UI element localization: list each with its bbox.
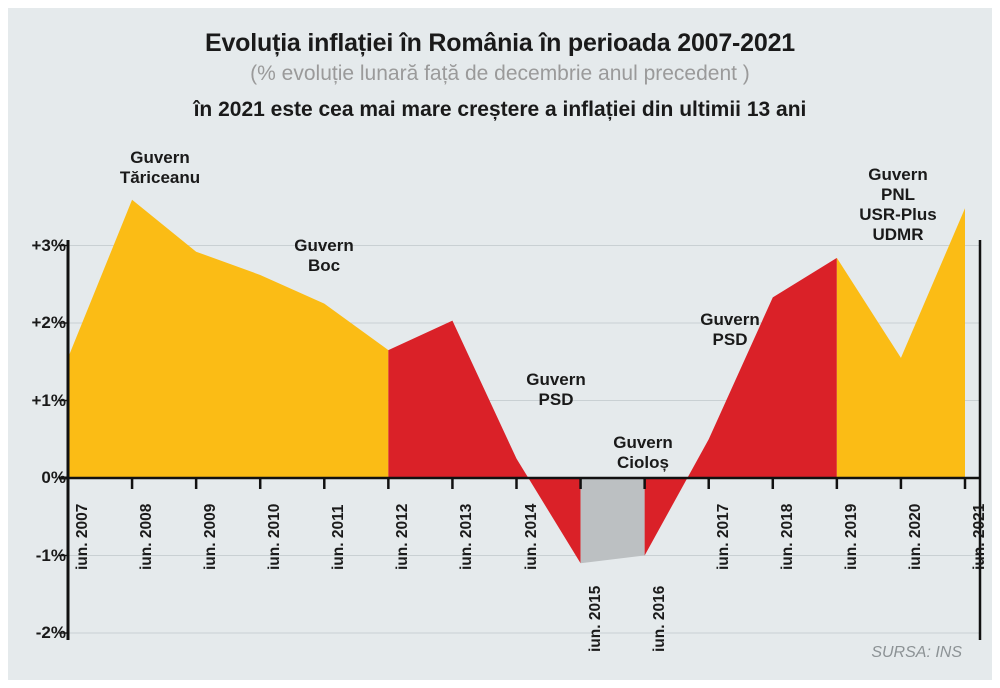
area-segment (388, 321, 580, 564)
government-annotation: Guvern PSD (466, 370, 646, 410)
x-tick-label: iun. 2018 (779, 504, 797, 570)
area-segment (837, 208, 965, 478)
x-tick-label: iun. 2014 (523, 504, 541, 570)
area-segment (645, 258, 837, 556)
government-annotation: Guvern PNL USR-Plus UDMR (808, 165, 988, 245)
x-tick-label: iun. 2013 (458, 504, 476, 570)
government-annotation: Guvern PSD (640, 310, 820, 350)
y-axis-labels: +3%+2%+1%0%-1%-2% (8, 8, 66, 680)
chart-svg (8, 8, 992, 680)
x-tick-label: iun. 2015 (587, 586, 605, 652)
government-annotation: Guvern Cioloș (553, 433, 733, 473)
government-annotation: Guvern Tăriceanu (70, 148, 250, 188)
y-tick-label: 0% (14, 468, 66, 488)
y-tick-label: -1% (14, 546, 66, 566)
x-tick-label: iun. 2016 (651, 586, 669, 652)
x-tick-label: iun. 2017 (715, 504, 733, 570)
chart-page: Evoluția inflației în România în perioad… (0, 0, 1000, 688)
government-annotation: Guvern Boc (234, 236, 414, 276)
x-tick-label: iun. 2011 (330, 505, 348, 570)
y-tick-label: +2% (14, 313, 66, 333)
x-tick-label: iun. 2008 (138, 504, 156, 570)
plot-area: +3%+2%+1%0%-1%-2% iun. 2007iun. 2008iun.… (8, 8, 992, 680)
area-segment (581, 478, 645, 563)
x-tick-label: iun. 2019 (843, 504, 861, 570)
x-tick-label: iun. 2007 (74, 504, 92, 570)
source-note: SURSA: INS (871, 644, 962, 662)
y-tick-label: -2% (14, 623, 66, 643)
chart-card: Evoluția inflației în România în perioad… (8, 8, 992, 680)
x-tick-label: iun. 2012 (394, 504, 412, 570)
x-tick-label: iun. 2009 (202, 504, 220, 570)
x-tick-label: iun. 2020 (907, 504, 925, 570)
x-tick-label: iun. 2021 (971, 504, 989, 570)
y-tick-label: +1% (14, 391, 66, 411)
y-tick-label: +3% (14, 236, 66, 256)
x-tick-label: iun. 2010 (266, 504, 284, 570)
